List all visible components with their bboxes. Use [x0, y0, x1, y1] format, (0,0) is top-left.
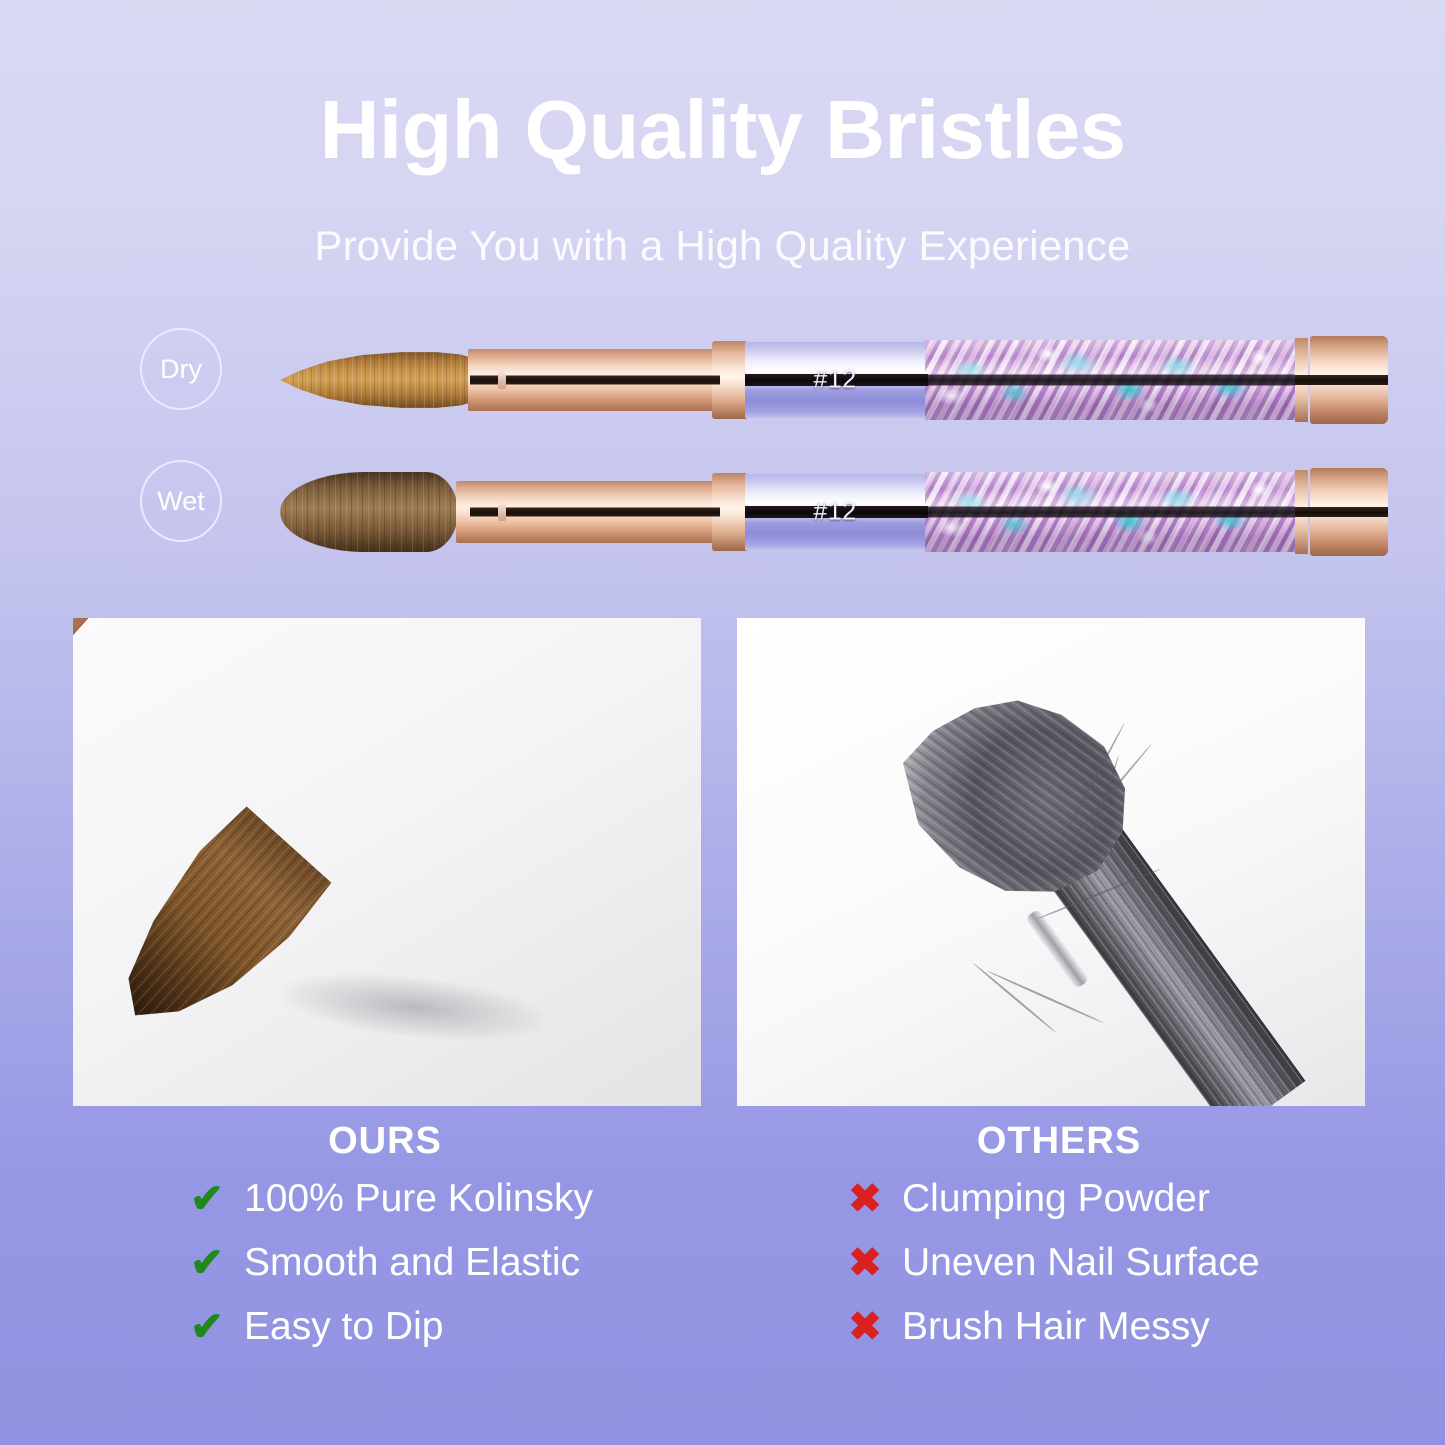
- feature-list-ours: ✔ 100% Pure Kolinsky ✔ Smooth and Elasti…: [182, 1168, 593, 1360]
- brush-row-dry: Dry #12: [0, 320, 1445, 440]
- check-icon: ✔: [182, 1307, 232, 1347]
- feature-list-others: ✖ Clumping Powder ✖ Uneven Nail Surface …: [840, 1168, 1260, 1360]
- state-badge-wet-label: Wet: [157, 486, 205, 517]
- list-item: ✔ 100% Pure Kolinsky: [182, 1168, 593, 1230]
- list-item: ✖ Clumping Powder: [840, 1168, 1260, 1230]
- cross-icon: ✖: [840, 1179, 890, 1219]
- brush-wet-glitter-stripe: [925, 507, 1297, 518]
- feature-label: Clumping Powder: [902, 1177, 1210, 1221]
- brush-dry-illustration: #12: [280, 320, 1370, 440]
- brush-wet-endcap-stripe: [1295, 507, 1388, 517]
- feature-label: Brush Hair Messy: [902, 1305, 1210, 1349]
- page-title: High Quality Bristles: [0, 86, 1445, 173]
- brush-wet-ferrule-groove: [470, 508, 720, 517]
- photo-ours: [73, 618, 701, 1106]
- feature-label: Smooth and Elastic: [244, 1241, 580, 1285]
- list-item: ✖ Brush Hair Messy: [840, 1296, 1260, 1358]
- column-title-others: OTHERS: [670, 1120, 1445, 1163]
- product-infographic: High Quality Bristles Provide You with a…: [0, 0, 1445, 1445]
- cross-icon: ✖: [840, 1243, 890, 1283]
- brush-dry-endcap-stripe: [1295, 375, 1388, 385]
- feature-label: Easy to Dip: [244, 1305, 443, 1349]
- check-icon: ✔: [182, 1243, 232, 1283]
- state-badge-dry: Dry: [140, 328, 222, 410]
- list-item: ✔ Easy to Dip: [182, 1296, 593, 1358]
- column-title-ours: OURS: [0, 1120, 770, 1163]
- brush-wet-bristles-icon: [280, 472, 458, 552]
- state-badge-wet: Wet: [140, 460, 222, 542]
- brush-wet-illustration: #12: [280, 452, 1370, 572]
- page-subtitle: Provide You with a High Quality Experien…: [0, 222, 1445, 270]
- brush-dry-ferrule-groove: [470, 376, 720, 385]
- brush-row-wet: Wet #12: [0, 452, 1445, 572]
- brush-wet-ferrule-crimp: [498, 503, 506, 521]
- brush-dry-bristles-icon: [280, 351, 476, 409]
- cross-icon: ✖: [840, 1307, 890, 1347]
- brush-dry-ferrule-crimp: [498, 371, 506, 389]
- brush-wet-size-label: #12: [780, 498, 890, 527]
- list-item: ✖ Uneven Nail Surface: [840, 1232, 1260, 1294]
- feature-label: 100% Pure Kolinsky: [244, 1177, 593, 1221]
- brush-dry-glitter-stripe: [925, 375, 1297, 386]
- check-icon: ✔: [182, 1179, 232, 1219]
- feature-label: Uneven Nail Surface: [902, 1241, 1260, 1285]
- photo-others: [737, 618, 1365, 1106]
- state-badge-dry-label: Dry: [160, 354, 202, 385]
- list-item: ✔ Smooth and Elastic: [182, 1232, 593, 1294]
- brush-dry-size-label: #12: [780, 366, 890, 395]
